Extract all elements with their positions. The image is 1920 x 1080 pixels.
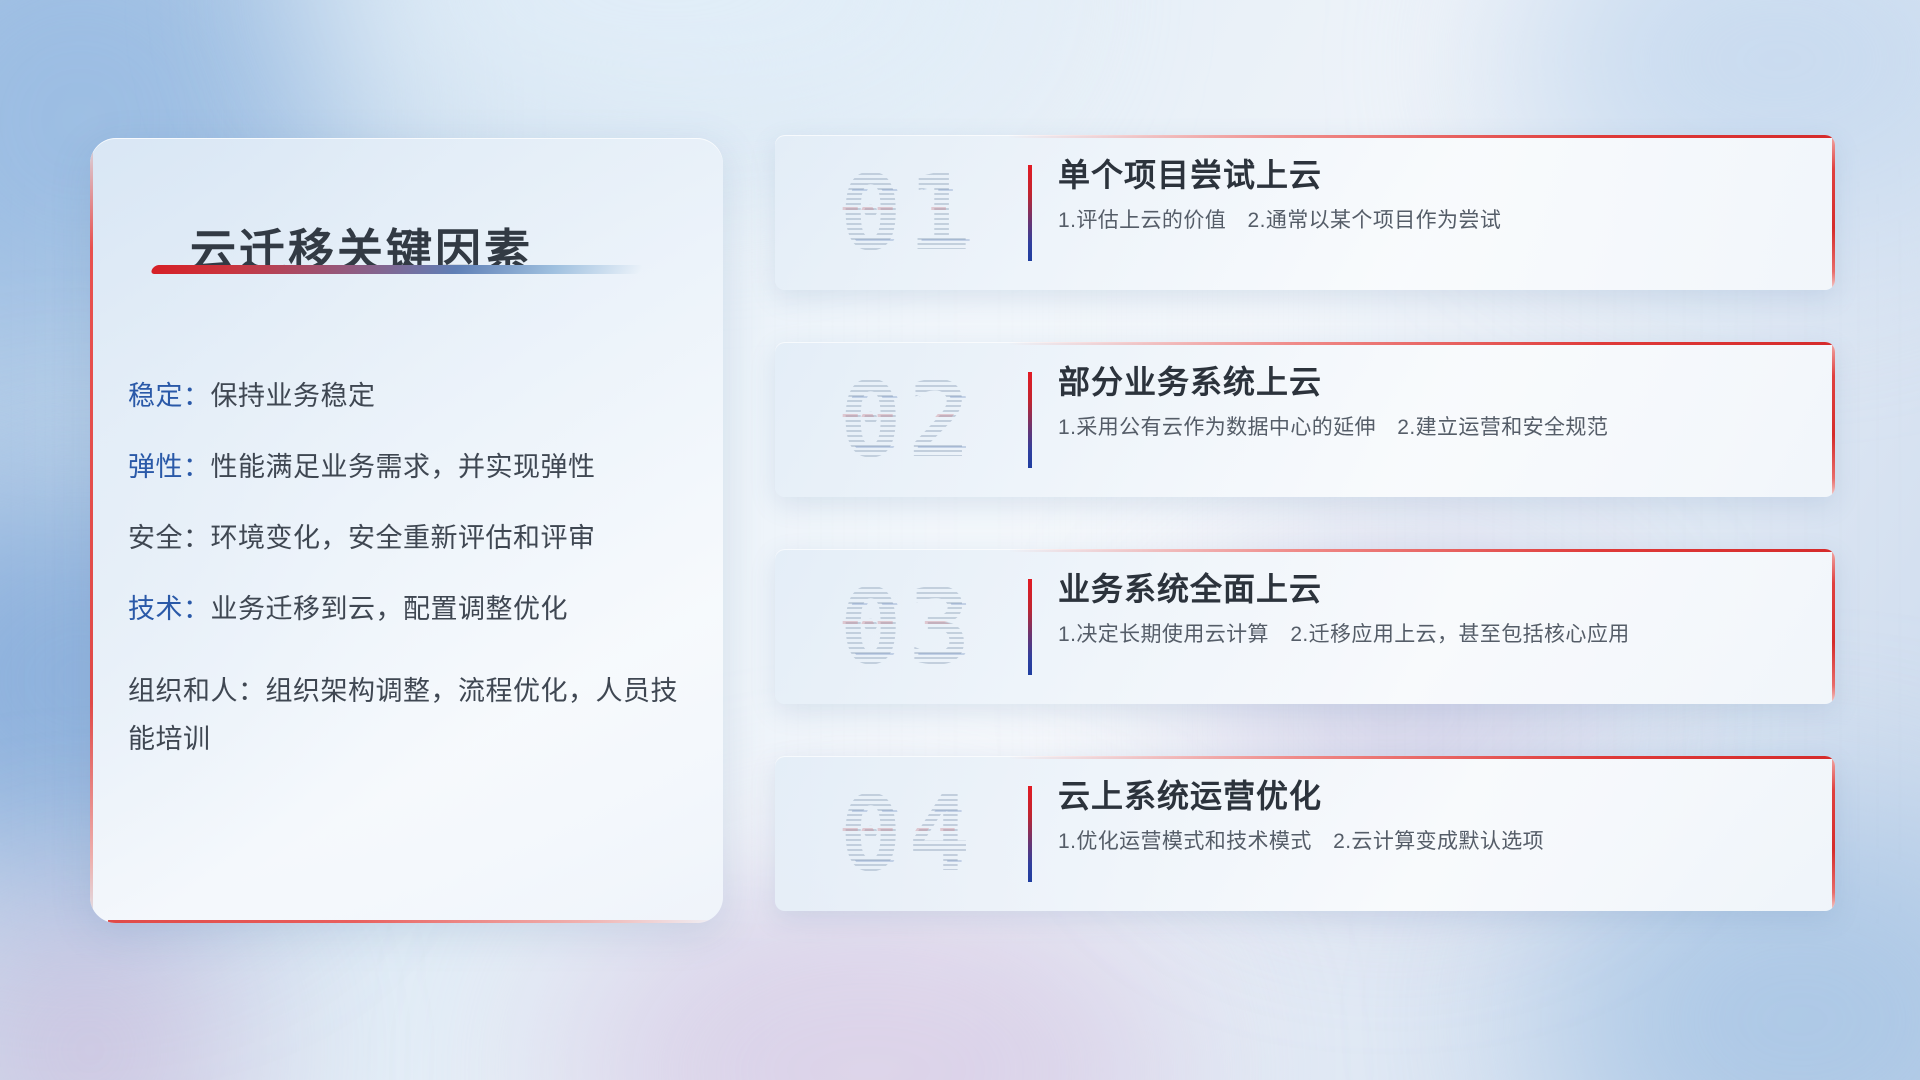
title-underline-rule — [150, 265, 644, 274]
factor-list: 稳定：保持业务稳定弹性：性能满足业务需求，并实现弹性安全：环境变化，安全重新评估… — [128, 383, 693, 807]
slide-stage: 云迁移关键因素 稳定：保持业务稳定弹性：性能满足业务需求，并实现弹性安全：环境变… — [0, 0, 1920, 1080]
stage-card[interactable]: 020202部分业务系统上云1.采用公有云作为数据中心的延伸 2.建立运营和安全… — [775, 342, 1835, 497]
stage-number-glyph: 01 — [793, 143, 1023, 283]
factor-row: 弹性：性能满足业务需求，并实现弹性 — [128, 454, 693, 481]
stage-number-glyph: 04 — [793, 764, 1023, 904]
card-accent-divider — [1028, 579, 1032, 675]
card-description: 1.决定长期使用云计算 2.迁移应用上云，甚至包括核心应用 — [1058, 621, 1795, 649]
stage-number-glyph: 04 — [797, 764, 1027, 904]
factor-key: 技术： — [128, 594, 211, 624]
factor-value: 性能满足业务需求，并实现弹性 — [211, 452, 596, 482]
factor-value: 环境变化，安全重新评估和评审 — [211, 523, 596, 553]
card-description: 1.优化运营模式和技术模式 2.云计算变成默认选项 — [1058, 828, 1795, 856]
stage-card[interactable]: 030303业务系统全面上云1.决定长期使用云计算 2.迁移应用上云，甚至包括核… — [775, 549, 1835, 704]
stage-number-glyph: 03 — [790, 557, 1020, 697]
card-description: 1.评估上云的价值 2.通常以某个项目作为尝试 — [1058, 207, 1795, 235]
factor-row: 技术：业务迁移到云，配置调整优化 — [128, 596, 693, 623]
card-body: 业务系统全面上云1.决定长期使用云计算 2.迁移应用上云，甚至包括核心应用 — [1058, 569, 1795, 649]
factor-key: 组织和人： — [128, 676, 266, 706]
factor-row: 安全：环境变化，安全重新评估和评审 — [128, 525, 693, 552]
card-title: 单个项目尝试上云 — [1058, 155, 1795, 195]
card-title: 部分业务系统上云 — [1058, 362, 1795, 402]
card-body: 部分业务系统上云1.采用公有云作为数据中心的延伸 2.建立运营和安全规范 — [1058, 362, 1795, 442]
stage-number-watermark: 010101 — [793, 143, 1023, 283]
stage-number-glyph: 04 — [790, 764, 1020, 904]
factor-value: 保持业务稳定 — [211, 381, 376, 411]
stage-number-watermark: 030303 — [793, 557, 1023, 697]
stage-card-list: 010101单个项目尝试上云1.评估上云的价值 2.通常以某个项目作为尝试020… — [775, 135, 1835, 963]
stage-card[interactable]: 010101单个项目尝试上云1.评估上云的价值 2.通常以某个项目作为尝试 — [775, 135, 1835, 290]
factor-key: 弹性： — [128, 452, 211, 482]
stage-number-glyph: 02 — [797, 350, 1027, 490]
factor-row: 组织和人：组织架构调整，流程优化，人员技能培训 — [128, 667, 693, 763]
key-factors-panel-inner: 云迁移关键因素 稳定：保持业务稳定弹性：性能满足业务需求，并实现弹性安全：环境变… — [90, 138, 723, 923]
factor-key: 安全： — [128, 523, 211, 553]
stage-number-glyph: 03 — [793, 557, 1023, 697]
key-factors-panel: 云迁移关键因素 稳定：保持业务稳定弹性：性能满足业务需求，并实现弹性安全：环境变… — [90, 138, 723, 923]
stage-card[interactable]: 040404云上系统运营优化1.优化运营模式和技术模式 2.云计算变成默认选项 — [775, 756, 1835, 911]
stage-number-watermark: 020202 — [793, 350, 1023, 490]
card-body: 云上系统运营优化1.优化运营模式和技术模式 2.云计算变成默认选项 — [1058, 776, 1795, 856]
stage-number-glyph: 02 — [790, 350, 1020, 490]
card-accent-divider — [1028, 786, 1032, 882]
card-title: 云上系统运营优化 — [1058, 776, 1795, 816]
factor-key: 稳定： — [128, 381, 211, 411]
card-accent-divider — [1028, 372, 1032, 468]
stage-number-watermark: 040404 — [793, 764, 1023, 904]
stage-number-glyph: 02 — [793, 350, 1023, 490]
factor-value: 业务迁移到云，配置调整优化 — [211, 594, 569, 624]
factor-row: 稳定：保持业务稳定 — [128, 383, 693, 410]
stage-number-glyph: 01 — [797, 143, 1027, 283]
stage-number-glyph: 03 — [797, 557, 1027, 697]
card-body: 单个项目尝试上云1.评估上云的价值 2.通常以某个项目作为尝试 — [1058, 155, 1795, 235]
card-title: 业务系统全面上云 — [1058, 569, 1795, 609]
card-description: 1.采用公有云作为数据中心的延伸 2.建立运营和安全规范 — [1058, 414, 1795, 442]
card-accent-divider — [1028, 165, 1032, 261]
stage-number-glyph: 01 — [790, 143, 1020, 283]
